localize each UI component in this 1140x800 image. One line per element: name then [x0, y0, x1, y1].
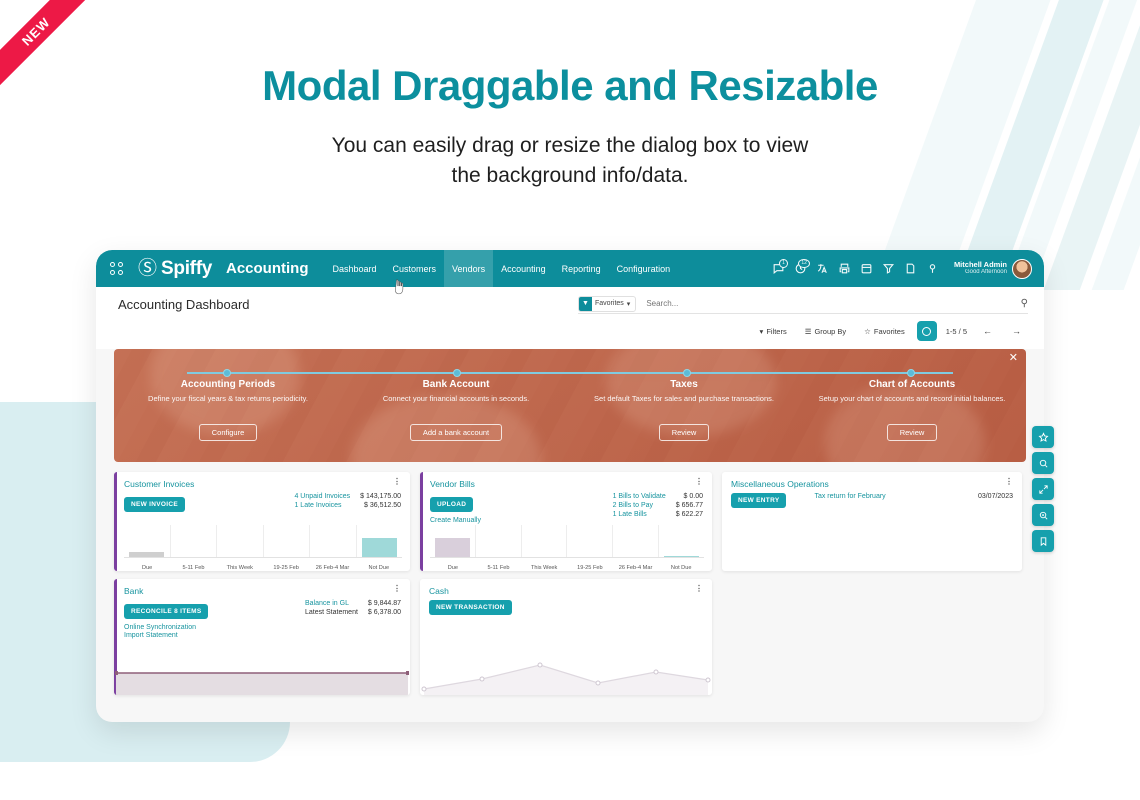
top-navbar: Ⓢ Spiffy Accounting Dashboard Customers …: [96, 250, 1044, 287]
logo-text: Spiffy: [161, 258, 212, 280]
card-title: Bank: [124, 586, 143, 596]
bar-label: 26 Feb-4 Mar: [613, 565, 659, 571]
star-icon: ☆: [864, 327, 871, 336]
bar-label: This Week: [521, 565, 567, 571]
onboarding-step-bank-account: Bank Account Connect your financial acco…: [342, 379, 570, 441]
page-subtitle: You can easily drag or resize the dialog…: [0, 131, 1140, 191]
chevron-down-icon: ▾: [627, 300, 631, 308]
side-rail: [1032, 426, 1054, 552]
nav-item-accounting[interactable]: Accounting: [493, 250, 554, 287]
stat-value-balance-in-gl: $ 9,844.87: [368, 600, 401, 607]
stat-value-bills-to-pay: $ 656.77: [676, 502, 703, 509]
stat-label-latest-statement: Latest Statement: [305, 609, 358, 616]
stat-value-latest-statement: $ 6,378.00: [368, 609, 401, 616]
star-rail-icon[interactable]: [1032, 426, 1054, 448]
step-desc: Set default Taxes for sales and purchase…: [586, 394, 782, 416]
messages-icon[interactable]: 1: [772, 262, 785, 275]
step-title: Taxes: [586, 379, 782, 390]
activities-icon[interactable]: 12: [794, 262, 807, 275]
note-icon[interactable]: [904, 262, 917, 275]
card-menu-icon[interactable]: ⋮: [695, 479, 703, 485]
printer-icon[interactable]: [838, 262, 851, 275]
breadcrumb-title: Accounting Dashboard: [118, 297, 250, 312]
nav-item-customers[interactable]: Customers: [385, 250, 445, 287]
bar-label: Not Due: [356, 565, 402, 571]
bar-label: 19-25 Feb: [567, 565, 613, 571]
card-menu-icon[interactable]: ⋮: [695, 586, 703, 592]
previous-page-button[interactable]: ←: [976, 324, 999, 338]
bar-label: 26 Feb-4 Mar: [309, 565, 355, 571]
review-accounts-button[interactable]: Review: [887, 424, 938, 441]
cash-area-chart: [420, 639, 712, 695]
online-synchronization-link[interactable]: Online Synchronization: [124, 624, 208, 631]
dashboard-cards: Customer Invoices ⋮ NEW INVOICE 4 Unpaid…: [96, 462, 1044, 695]
user-name: Mitchell Admin: [954, 260, 1007, 269]
zoom-rail-icon[interactable]: [1032, 504, 1054, 526]
reconcile-items-button[interactable]: RECONCILE 8 ITEMS: [124, 604, 208, 619]
card-title: Customer Invoices: [124, 479, 194, 489]
app-name: Accounting: [226, 260, 309, 277]
step-title: Accounting Periods: [130, 379, 326, 390]
search-bar: ▼ Favorites ▾ ⚲: [578, 294, 1028, 314]
bar-label: Due: [430, 565, 476, 571]
favorites-filter-chip[interactable]: ▼ Favorites ▾: [578, 296, 636, 312]
translate-icon[interactable]: [816, 262, 829, 275]
filters-button[interactable]: ▾ Filters: [754, 324, 793, 339]
filters-label: Filters: [766, 327, 786, 336]
new-transaction-button[interactable]: NEW TRANSACTION: [429, 600, 512, 615]
card-title: Vendor Bills: [430, 479, 475, 489]
step-title: Bank Account: [358, 379, 554, 390]
page-title: Modal Draggable and Resizable: [0, 62, 1140, 110]
next-page-button[interactable]: →: [1005, 324, 1028, 338]
step-desc: Connect your financial accounts in secon…: [358, 394, 554, 416]
nav-item-configuration[interactable]: Configuration: [609, 250, 679, 287]
new-entry-button[interactable]: NEW ENTRY: [731, 493, 786, 508]
tax-return-entry-label[interactable]: Tax return for February: [814, 493, 885, 508]
group-icon: ☰: [805, 327, 812, 336]
apps-grid-icon[interactable]: [110, 262, 124, 276]
onboarding-steps: Accounting Periods Define your fiscal ye…: [114, 379, 1026, 441]
bar-label: Not Due: [658, 565, 704, 571]
step-title: Chart of Accounts: [814, 379, 1010, 390]
bookmark-rail-icon[interactable]: [1032, 530, 1054, 552]
onboarding-step-chart-of-accounts: Chart of Accounts Setup your chart of ac…: [798, 379, 1026, 441]
app-window: Ⓢ Spiffy Accounting Dashboard Customers …: [96, 250, 1044, 722]
stat-label-late-bills[interactable]: 1 Late Bills: [613, 511, 647, 518]
spiffy-logo-icon: Ⓢ: [138, 259, 157, 278]
group-by-label: Group By: [814, 327, 846, 336]
card-title: Cash: [429, 586, 449, 596]
funnel-icon: ▼: [579, 297, 592, 311]
new-invoice-button[interactable]: NEW INVOICE: [124, 497, 185, 512]
onboarding-progress-track: [114, 372, 1026, 374]
card-menu-icon[interactable]: ⋮: [393, 586, 401, 592]
create-manually-link[interactable]: Create Manually: [430, 517, 481, 524]
onboarding-step-accounting-periods: Accounting Periods Define your fiscal ye…: [114, 379, 342, 441]
pagination-counter: 1-5 / 5: [943, 327, 970, 336]
card-title: Miscellaneous Operations: [731, 479, 829, 489]
stat-label-unpaid-invoices[interactable]: 4 Unpaid Invoices: [294, 493, 350, 500]
search-input[interactable]: [636, 299, 1020, 308]
customer-invoices-bar-chart: Due 5-11 Feb This Week 19-25 Feb 26 Feb-…: [124, 525, 402, 571]
stat-value-bills-to-validate: $ 0.00: [684, 493, 703, 500]
user-greeting: Good Afternoon: [954, 269, 1007, 277]
filter-funnel-icon[interactable]: [882, 262, 895, 275]
stat-label-late-invoices[interactable]: 1 Late Invoices: [294, 502, 341, 509]
bar-label: This Week: [217, 565, 263, 571]
favorites-chip-label: Favorites: [595, 300, 624, 307]
nav-item-reporting[interactable]: Reporting: [554, 250, 609, 287]
card-menu-icon[interactable]: ⋮: [1005, 479, 1013, 485]
nav-item-vendors[interactable]: Vendors: [444, 250, 493, 287]
add-bank-account-button[interactable]: Add a bank account: [410, 424, 502, 441]
onboarding-banner: ✕ Accounting Periods Define your fiscal …: [114, 349, 1026, 462]
favorites-label: Favorites: [874, 327, 905, 336]
stat-value-late-bills: $ 622.27: [676, 511, 703, 518]
brand-logo[interactable]: Ⓢ Spiffy: [138, 258, 212, 280]
search-icon[interactable]: ⚲: [1021, 298, 1028, 309]
page-subtitle-line1: You can easily drag or resize the dialog…: [0, 131, 1140, 161]
step-desc: Setup your chart of accounts and record …: [814, 394, 1010, 416]
card-cash: Cash ⋮ NEW TRANSACTION: [420, 579, 712, 695]
onboarding-step-taxes: Taxes Set default Taxes for sales and pu…: [570, 379, 798, 441]
calendar-icon[interactable]: [860, 262, 873, 275]
bank-area-chart: [114, 669, 410, 695]
bar-label: 5-11 Feb: [170, 565, 216, 571]
close-icon[interactable]: ✕: [1009, 353, 1018, 364]
bar-label: 5-11 Feb: [476, 565, 522, 571]
filter-icon: ▾: [760, 327, 764, 336]
configure-button[interactable]: Configure: [199, 424, 258, 441]
vendor-bills-bar-chart: Due 5-11 Feb This Week 19-25 Feb 26 Feb-…: [430, 525, 704, 571]
card-menu-icon[interactable]: ⋮: [393, 479, 401, 485]
user-menu[interactable]: Mitchell Admin Good Afternoon: [954, 259, 1032, 279]
card-misc-operations: Miscellaneous Operations ⋮ NEW ENTRY Tax…: [722, 472, 1022, 571]
group-by-button[interactable]: ☰ Group By: [799, 324, 852, 339]
control-bar: Accounting Dashboard ▼ Favorites ▾ ⚲ ▾ F…: [96, 287, 1044, 349]
stat-value-unpaid-invoices: $ 143,175.00: [360, 493, 401, 500]
favorites-button[interactable]: ☆ Favorites: [858, 324, 911, 339]
page-subtitle-line2: the background info/data.: [0, 161, 1140, 191]
import-statement-link[interactable]: Import Statement: [124, 632, 208, 639]
card-bank: Bank ⋮ RECONCILE 8 ITEMS Online Synchron…: [114, 579, 410, 695]
activities-badge: 12: [798, 259, 810, 268]
location-pin-icon[interactable]: [926, 262, 939, 275]
card-customer-invoices: Customer Invoices ⋮ NEW INVOICE 4 Unpaid…: [114, 472, 410, 571]
expand-rail-icon[interactable]: [1032, 478, 1054, 500]
step-desc: Define your fiscal years & tax returns p…: [130, 394, 326, 416]
tax-return-entry-date: 03/07/2023: [978, 493, 1013, 508]
stat-label-balance-in-gl[interactable]: Balance in GL: [305, 600, 349, 607]
search-rail-icon[interactable]: [1032, 452, 1054, 474]
messages-badge: 1: [779, 259, 788, 268]
card-vendor-bills: Vendor Bills ⋮ UPLOAD Create Manually 1 …: [420, 472, 712, 571]
view-toggle-button[interactable]: [917, 321, 937, 341]
nav-menu: Dashboard Customers Vendors Accounting R…: [325, 250, 679, 287]
bar-label: 19-25 Feb: [263, 565, 309, 571]
stat-label-bills-to-validate[interactable]: 1 Bills to Validate: [613, 493, 666, 500]
stat-value-late-invoices: $ 36,512.50: [364, 502, 401, 509]
nav-item-dashboard[interactable]: Dashboard: [325, 250, 385, 287]
upload-button[interactable]: UPLOAD: [430, 497, 473, 512]
stat-label-bills-to-pay[interactable]: 2 Bills to Pay: [613, 502, 653, 509]
onboarding-progress-line: [187, 372, 953, 374]
navbar-icon-tray: 1 12: [772, 259, 1032, 279]
bar-label: Due: [124, 565, 170, 571]
review-taxes-button[interactable]: Review: [659, 424, 710, 441]
avatar[interactable]: [1012, 259, 1032, 279]
